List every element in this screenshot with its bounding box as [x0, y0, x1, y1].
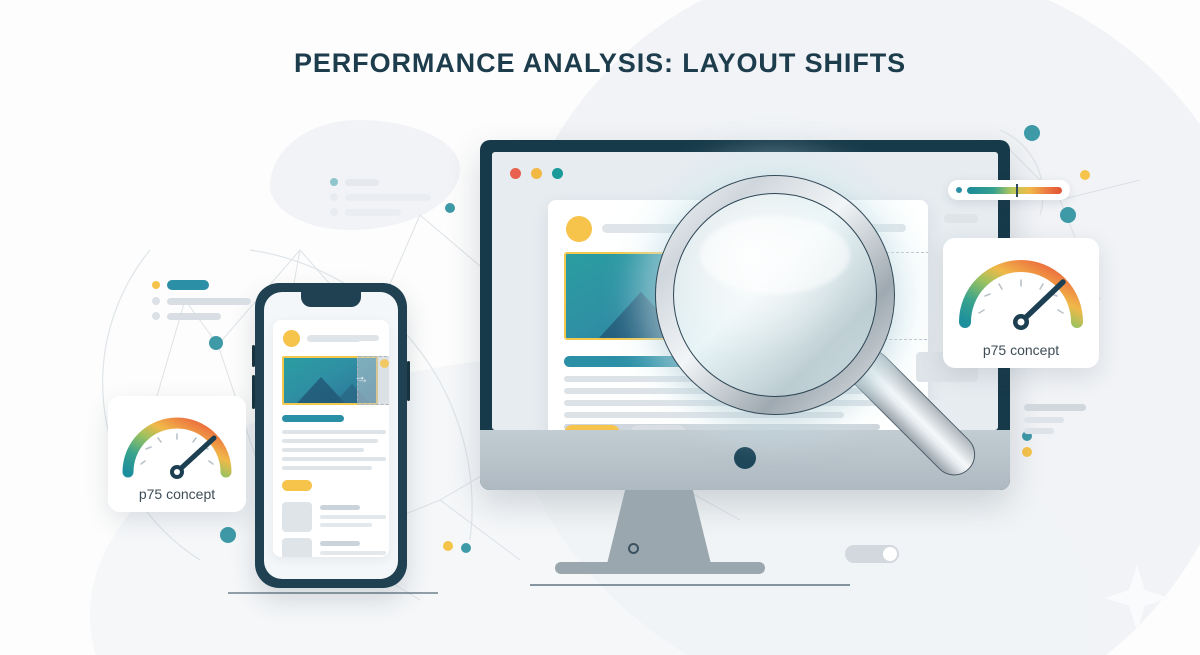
list-item-text [320, 523, 372, 527]
list-bar [345, 194, 431, 201]
gauge-needle [1021, 282, 1063, 322]
network-dot [443, 541, 453, 551]
network-dot [220, 527, 236, 543]
list-item-title [320, 505, 360, 510]
heading-bar [282, 415, 344, 422]
list-dot-icon [152, 281, 160, 289]
list-bar [345, 179, 379, 186]
score-marker-dot [956, 187, 962, 193]
network-dot [1080, 170, 1090, 180]
list-dot-icon [330, 208, 338, 216]
phone-screen: → → [264, 292, 398, 579]
network-dot [445, 203, 455, 213]
list-bar [1024, 417, 1064, 423]
text-line [282, 439, 378, 443]
list-item-thumbnail [282, 538, 312, 557]
ghost-placeholder-box-1: → [357, 356, 389, 405]
mobile-device: → → [255, 283, 407, 588]
list-bar [167, 313, 221, 320]
list-dot-icon [152, 312, 160, 320]
phone-content-card: → → [273, 320, 389, 557]
score-threshold-tick [1016, 184, 1018, 197]
list-bar [1024, 404, 1086, 411]
text-line [282, 466, 372, 470]
monitor-stand-base [555, 562, 765, 574]
gauge-right-svg [943, 238, 1099, 336]
shift-arrow-icon-ghost: → [354, 370, 366, 382]
camera-dot-icon [734, 447, 756, 469]
list-item-text [320, 551, 386, 555]
performance-score-bar[interactable] [948, 180, 1070, 200]
gauge-left-svg [108, 396, 246, 484]
side-meta-bar [944, 214, 978, 223]
list-dot-icon [152, 297, 160, 305]
toggle-knob [883, 547, 897, 561]
network-dot [209, 336, 223, 350]
gauge-card-left[interactable]: p75 concept [108, 396, 246, 512]
page-title: PERFORMANCE ANALYSIS: LAYOUT SHIFTS [0, 48, 1200, 79]
list-bar-active [167, 280, 209, 290]
text-line [282, 457, 386, 461]
traffic-light-minimize[interactable] [531, 168, 542, 179]
avatar [283, 330, 300, 347]
network-dot [1060, 207, 1076, 223]
text-line [282, 448, 364, 452]
phone-volume-down-button[interactable] [252, 375, 255, 409]
gauge-right-label: p75 concept [943, 342, 1099, 358]
magnifying-glass[interactable] [655, 175, 895, 415]
magnifier-lens [673, 193, 877, 397]
list-dot-icon [330, 193, 338, 201]
list-item-title [320, 541, 360, 546]
floor-line-phone [228, 592, 438, 594]
phone-volume-up-button[interactable] [252, 345, 255, 367]
score-gradient-fill [967, 187, 1062, 194]
floor-line-desktop [530, 584, 850, 586]
phone-notch [301, 292, 361, 307]
primary-action-pill[interactable] [282, 480, 312, 491]
sun-icon [380, 359, 389, 368]
list-item-text [320, 515, 386, 519]
list-dot-icon [330, 178, 338, 186]
meta-placeholder-bar [357, 335, 379, 341]
list-item-thumbnail [282, 502, 312, 532]
text-line [282, 430, 386, 434]
network-dot [1022, 447, 1032, 457]
settings-toggle[interactable] [845, 545, 899, 563]
illustration-canvas: PERFORMANCE ANALYSIS: LAYOUT SHIFTS → → [0, 0, 1200, 655]
traffic-light-maximize[interactable] [552, 168, 563, 179]
magnifier-ring [655, 175, 895, 415]
gauge-left-label: p75 concept [108, 486, 246, 502]
list-bar [1024, 428, 1054, 434]
network-dot [1024, 125, 1040, 141]
gauge-needle [177, 438, 214, 472]
avatar [566, 216, 592, 242]
gauge-card-right[interactable]: p75 concept [943, 238, 1099, 368]
phone-power-button[interactable] [407, 361, 410, 401]
status-circle-icon [628, 543, 639, 554]
network-dot [461, 543, 471, 553]
lens-gloss [700, 216, 850, 294]
list-bar [345, 209, 401, 216]
traffic-light-close[interactable] [510, 168, 521, 179]
title-placeholder-bar [307, 335, 361, 342]
list-bar [167, 298, 251, 305]
